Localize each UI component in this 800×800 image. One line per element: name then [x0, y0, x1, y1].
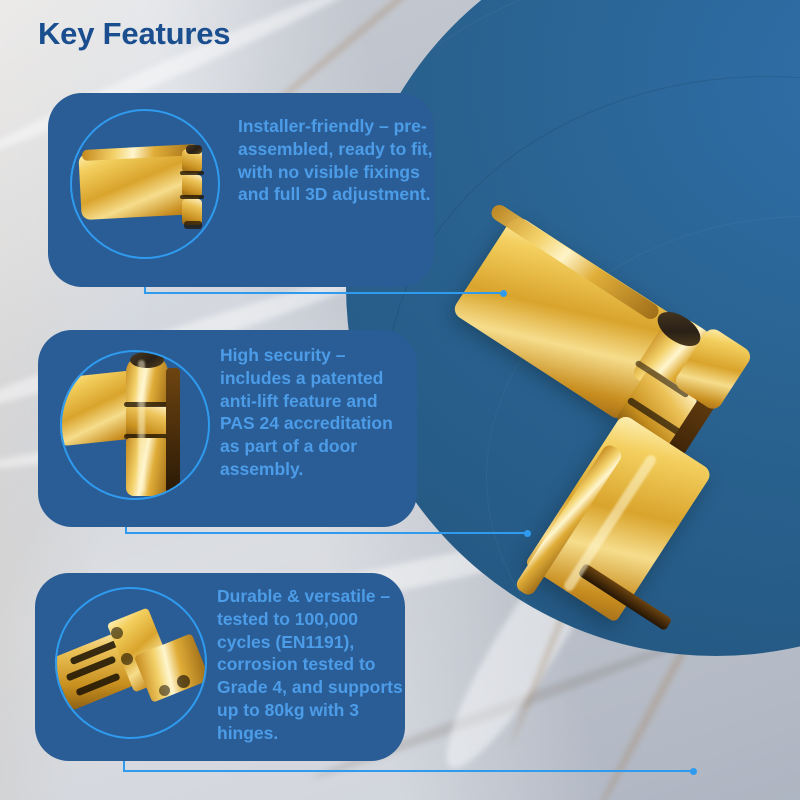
page-title: Key Features — [38, 16, 230, 52]
infographic-canvas: Key Features — [0, 0, 800, 800]
feature-card-high-security[interactable]: High security – includes a patented anti… — [38, 330, 417, 527]
feature-text: Installer-friendly – pre-assembled, read… — [238, 115, 434, 206]
feature-card-installer-friendly[interactable]: Installer-friendly – pre-assembled, read… — [48, 93, 434, 287]
feature-image-ring — [55, 587, 207, 739]
product-image-gold-flag-hinge — [455, 238, 785, 658]
feature-image-ring — [70, 109, 220, 259]
feature-card-durable-versatile[interactable]: Durable & versatile – tested to 100,000 … — [35, 573, 405, 761]
feature-text: High security – includes a patented anti… — [220, 344, 416, 481]
feature-image-ring — [60, 350, 210, 500]
feature-text: Durable & versatile – tested to 100,000 … — [217, 585, 407, 744]
